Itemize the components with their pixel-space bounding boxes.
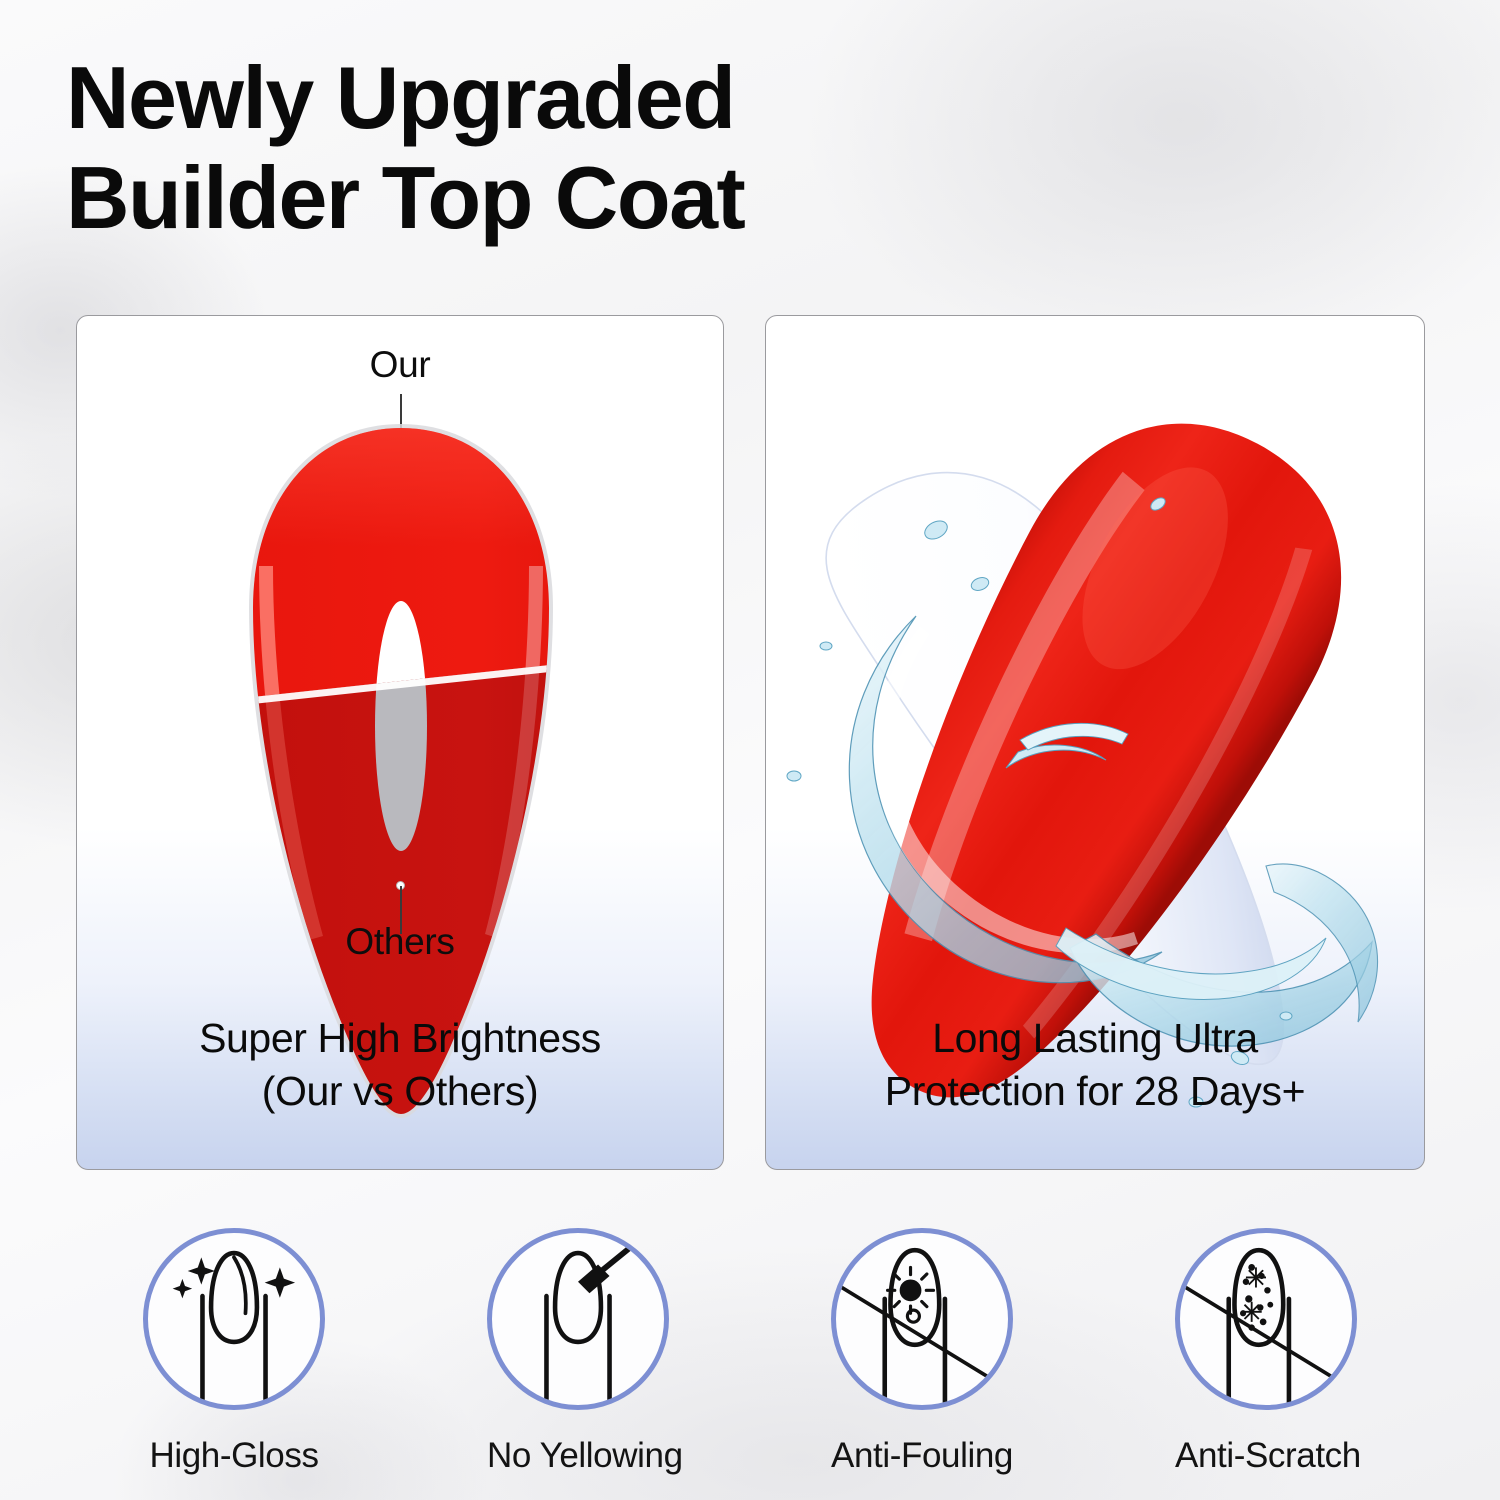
feature-label: No Yellowing — [487, 1436, 669, 1476]
caption-line-2: (Our vs Others) — [77, 1065, 723, 1117]
caption-line-1: Long Lasting Ultra — [766, 1012, 1424, 1064]
headline-line-1: Newly Upgraded — [66, 48, 1066, 148]
nail-sparkle-icon — [148, 1233, 320, 1405]
feature-icon-circle — [143, 1228, 325, 1410]
feature-icon-circle — [831, 1228, 1013, 1410]
caption-line-1: Super High Brightness — [77, 1012, 723, 1064]
feature-card-protection: Long Lasting Ultra Protection for 28 Day… — [765, 315, 1425, 1170]
nail-brush-icon — [492, 1233, 664, 1405]
card-caption-brightness: Super High Brightness (Our vs Others) — [77, 1012, 723, 1117]
pointer-label-others: Others — [280, 921, 520, 963]
caption-line-2: Protection for 28 Days+ — [766, 1065, 1424, 1117]
feature-icon-circle — [1175, 1228, 1357, 1410]
nail-germ-blocked-icon — [836, 1233, 1008, 1405]
feature-icon-circle — [487, 1228, 669, 1410]
feature-label: Anti-Scratch — [1175, 1436, 1357, 1476]
card-caption-protection: Long Lasting Ultra Protection for 28 Day… — [766, 1012, 1424, 1117]
headline-line-2: Builder Top Coat — [66, 148, 1066, 248]
feature-icon-row: High-Gloss No Yellowing — [0, 1228, 1500, 1476]
feature-item-no-yellowing[interactable]: No Yellowing — [487, 1228, 669, 1476]
nail-scratch-blocked-icon — [1180, 1233, 1352, 1405]
feature-label: Anti-Fouling — [831, 1436, 1013, 1476]
feature-label: High-Gloss — [143, 1436, 325, 1476]
feature-card-brightness: Our — [76, 315, 724, 1170]
feature-item-high-gloss[interactable]: High-Gloss — [143, 1228, 325, 1476]
page-title: Newly Upgraded Builder Top Coat — [66, 48, 1066, 249]
feature-item-anti-scratch[interactable]: Anti-Scratch — [1175, 1228, 1357, 1476]
feature-item-anti-fouling[interactable]: Anti-Fouling — [831, 1228, 1013, 1476]
